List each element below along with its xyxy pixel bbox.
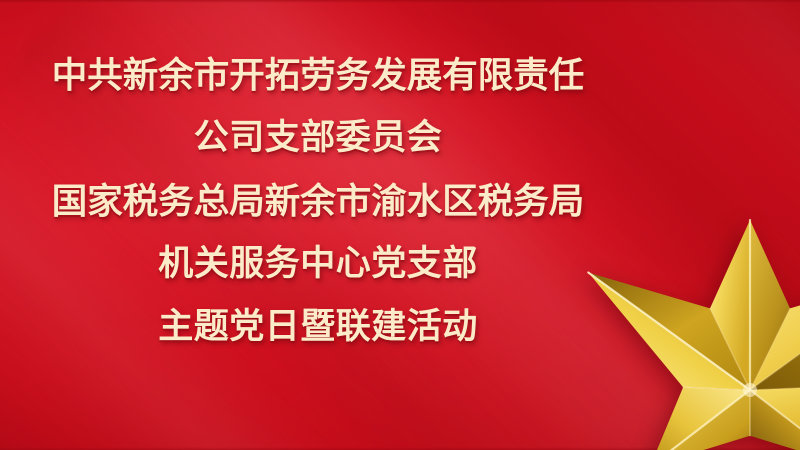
headline-line-2: 公司支部委员会 <box>194 107 443 170</box>
headline-block: 中共新余市开拓劳务发展有限责任 公司支部委员会 国家税务总局新余市渝水区税务局 … <box>16 44 620 359</box>
headline-line-3: 国家税务总局新余市渝水区税务局 <box>52 170 585 233</box>
headline-line-1: 中共新余市开拓劳务发展有限责任 <box>52 44 585 107</box>
party-activity-banner: 中共新余市开拓劳务发展有限责任 公司支部委员会 国家税务总局新余市渝水区税务局 … <box>0 0 800 450</box>
headline-line-5: 主题党日暨联建活动 <box>158 296 478 359</box>
background-top-edge-shade <box>0 0 800 3</box>
headline-line-4: 机关服务中心党支部 <box>158 233 478 296</box>
